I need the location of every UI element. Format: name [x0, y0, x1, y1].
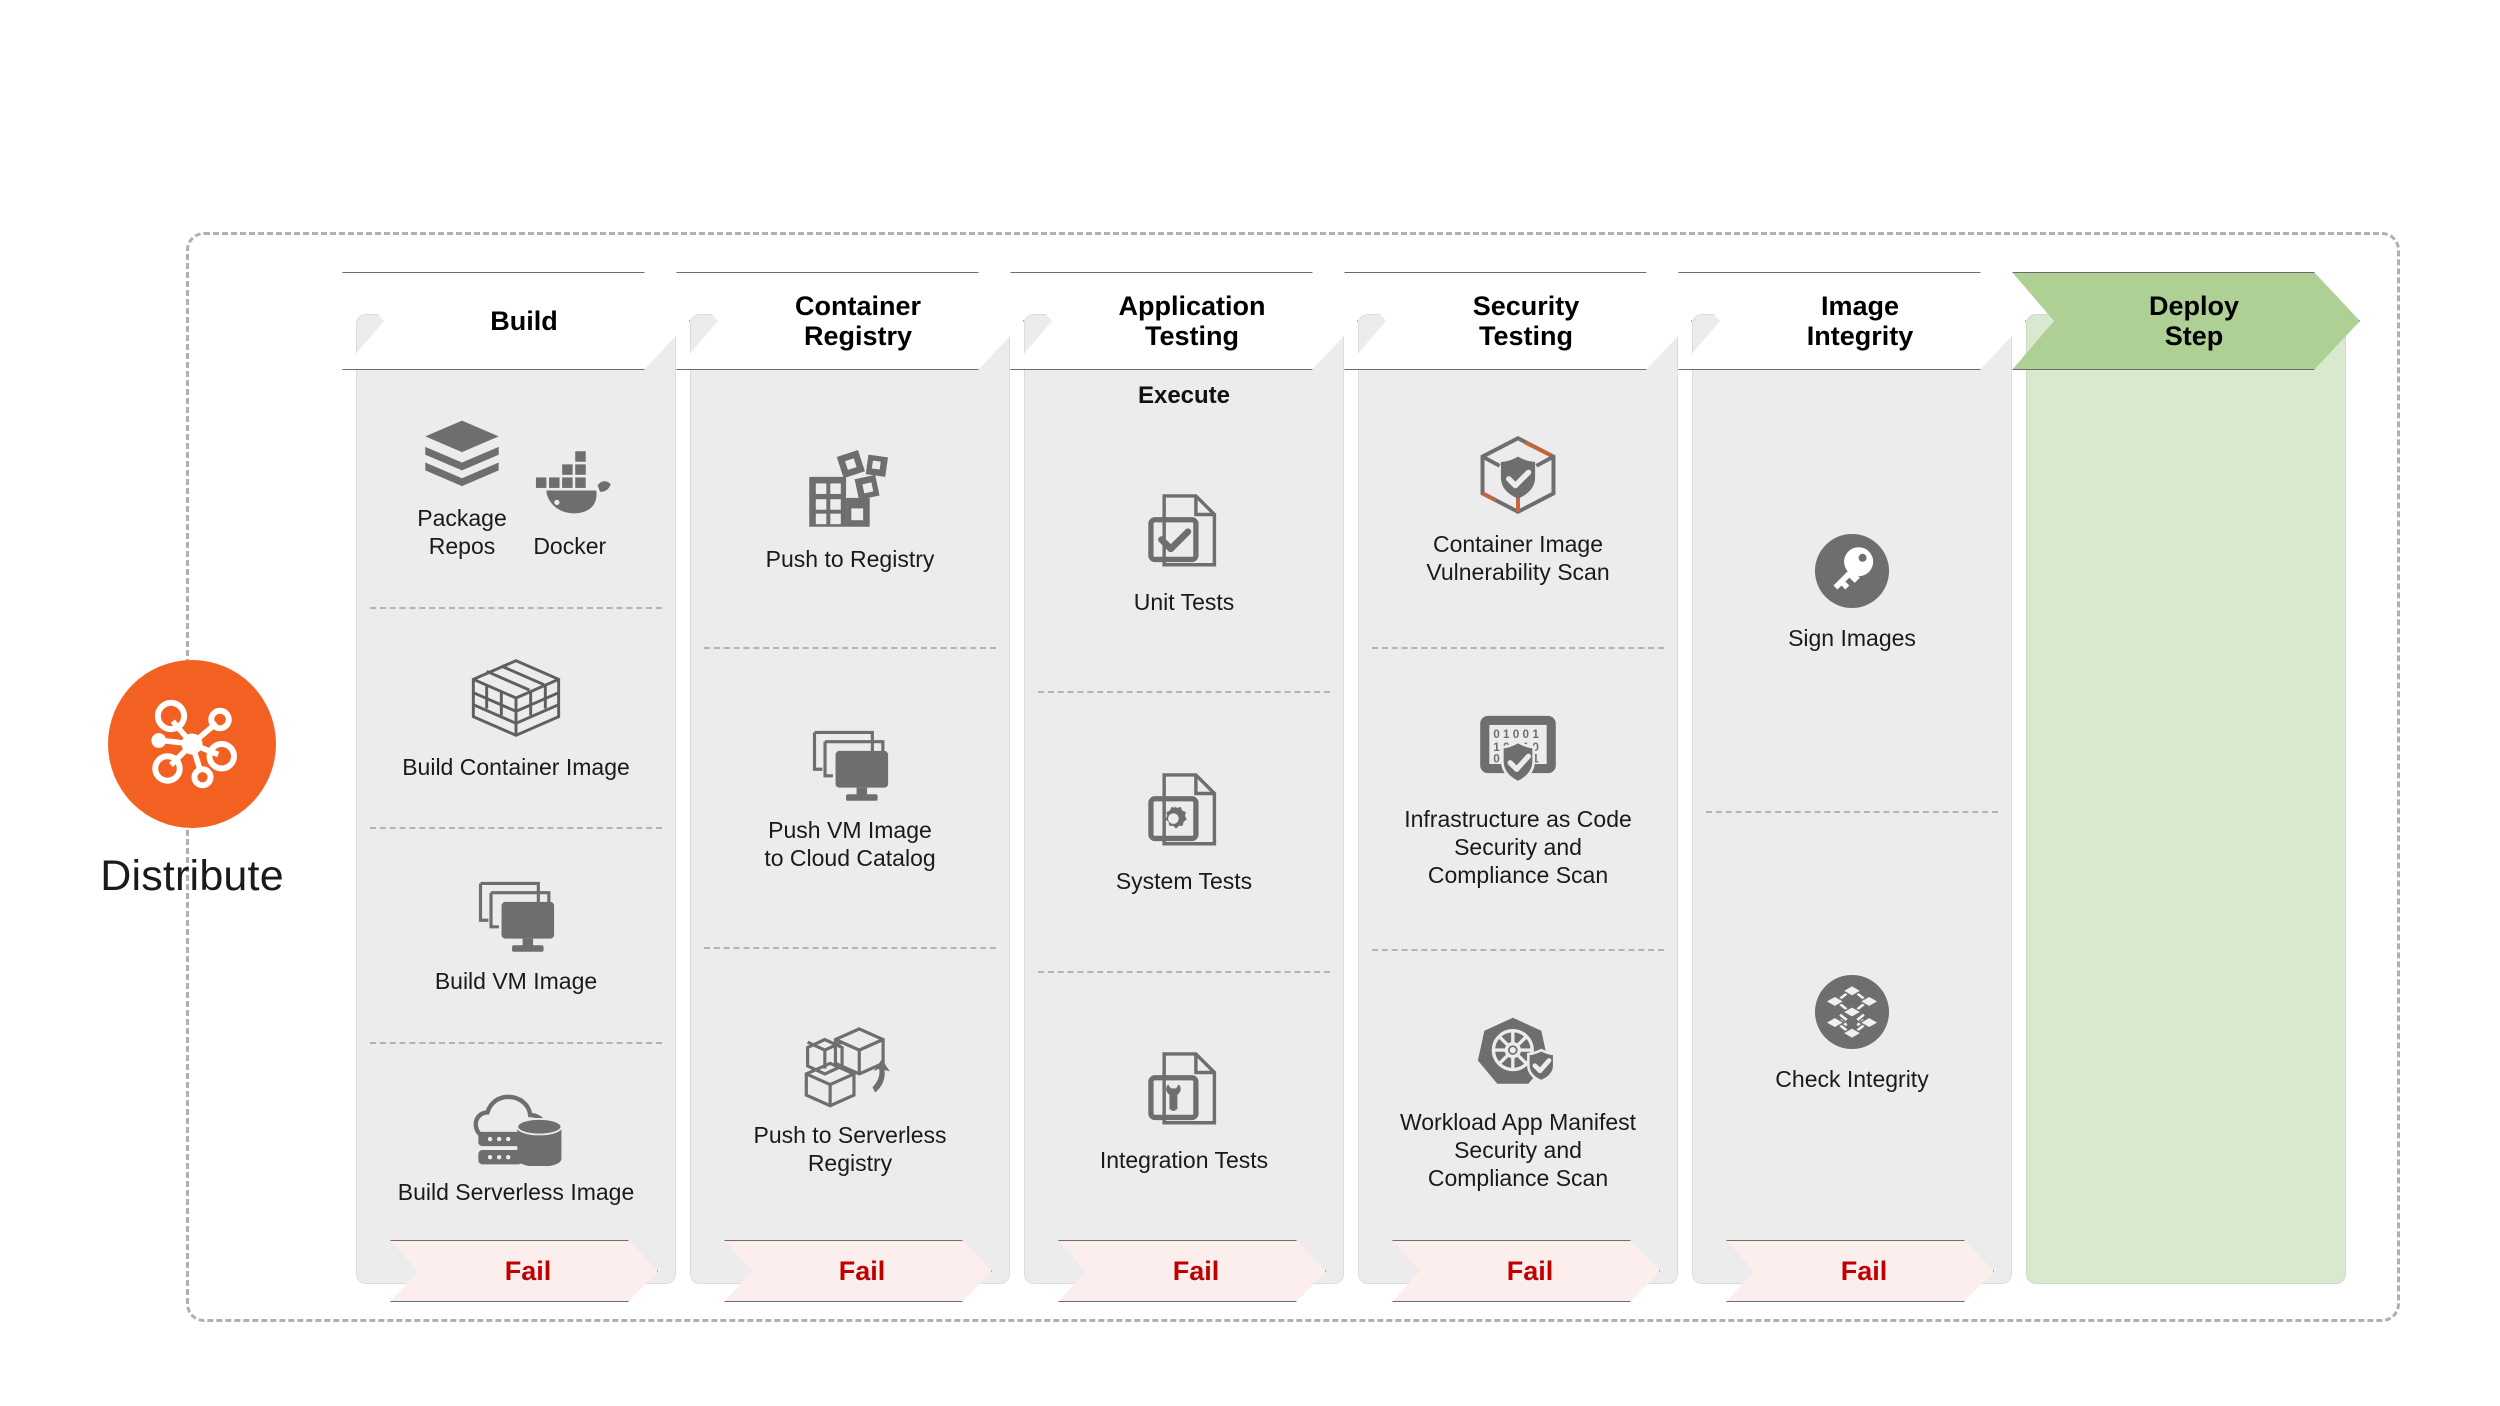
lane-item-build-vm-image[interactable]: Build VM Image: [356, 829, 676, 1041]
lane-item-check-integrity[interactable]: Check Integrity: [1692, 813, 2012, 1252]
lane-item-container-image-vulnerability-scan[interactable]: Container ImageVulnerability Scan: [1358, 372, 1678, 647]
lane-application-testing[interactable]: ApplicationTesting Execute Unit Tests: [1024, 272, 1344, 1282]
item-label: Infrastructure as CodeSecurity andCompli…: [1404, 805, 1632, 889]
network-hub-icon: [108, 660, 276, 828]
lane-body: Sign Images: [1692, 372, 2012, 1252]
pipeline-lanes: Build: [356, 272, 2356, 1282]
lane-item-workload-app-manifest-scan[interactable]: Workload App ManifestSecurity andComplia…: [1358, 951, 1678, 1252]
lane-body: Push to Registry: [690, 372, 1010, 1252]
item-label: Build VM Image: [435, 967, 597, 995]
item-label: Build Container Image: [402, 753, 630, 781]
fail-label: Fail: [831, 1256, 886, 1287]
layers-stack-icon: [419, 418, 505, 494]
document-gear-icon: [1143, 769, 1225, 855]
item-label: Container ImageVulnerability Scan: [1426, 530, 1609, 586]
cube-grid-icon: [468, 655, 564, 741]
lane-header-image-integrity[interactable]: ImageIntegrity: [1678, 272, 2026, 370]
item-label: Check Integrity: [1775, 1065, 1928, 1093]
monitor-stack-icon: [470, 875, 562, 955]
lane-item-package-repos-docker[interactable]: PackageRepos: [356, 372, 676, 607]
lane-body: Execute Unit Tests: [1024, 372, 1344, 1252]
icon-label: PackageRepos: [417, 504, 507, 560]
lane-header-container-registry[interactable]: ContainerRegistry: [676, 272, 1024, 370]
item-label: Workload App ManifestSecurity andComplia…: [1400, 1108, 1636, 1192]
lane-build[interactable]: Build: [356, 272, 676, 1282]
lane-body: [2026, 372, 2346, 1252]
lane-security-testing[interactable]: SecurityTesting: [1358, 272, 1678, 1282]
binary-screen-shield-icon: 0 1 0 0 1 1 0 1 1 0 0 1 0 0 1: [1475, 709, 1561, 793]
lane-header-build[interactable]: Build: [342, 272, 690, 370]
lane-header-application-testing[interactable]: ApplicationTesting: [1010, 272, 1358, 370]
fail-banner[interactable]: Fail: [390, 1240, 658, 1302]
lane-item-integration-tests[interactable]: Integration Tests: [1024, 973, 1344, 1250]
lane-title: ApplicationTesting: [1093, 291, 1276, 351]
item-label: Sign Images: [1788, 624, 1916, 652]
item-label: System Tests: [1116, 867, 1252, 895]
lane-subheading: Execute: [1024, 382, 1344, 410]
lane-title: ContainerRegistry: [769, 291, 931, 351]
lane-item-build-serverless-image[interactable]: Build Serverless Image: [356, 1044, 676, 1252]
cube-shield-check-icon: [1472, 432, 1564, 518]
lane-header-deploy-step[interactable]: DeployStep: [2012, 272, 2360, 370]
key-circle-icon: [1811, 530, 1893, 612]
svg-text:0 1 0 0 1: 0 1 0 0 1: [1493, 728, 1539, 741]
fail-label: Fail: [497, 1256, 552, 1287]
blockchain-circle-icon: [1811, 971, 1893, 1053]
item-label: Integration Tests: [1100, 1146, 1268, 1174]
lane-title: ImageIntegrity: [1781, 291, 1924, 351]
fail-banner[interactable]: Fail: [1058, 1240, 1326, 1302]
lane-title: Build: [464, 306, 568, 336]
lane-item-push-to-serverless-registry[interactable]: Push to ServerlessRegistry: [690, 949, 1010, 1252]
document-wrench-icon: [1143, 1048, 1225, 1134]
lane-item-system-tests[interactable]: System Tests: [1024, 693, 1344, 970]
lane-image-integrity[interactable]: ImageIntegrity Sign Im: [1692, 272, 2012, 1282]
lane-item-push-vm-image-to-cloud-catalog[interactable]: Push VM Imageto Cloud Catalog: [690, 649, 1010, 946]
kubernetes-shield-icon: [1474, 1012, 1562, 1096]
item-label: Unit Tests: [1134, 588, 1235, 616]
lane-deploy-step[interactable]: DeployStep: [2026, 272, 2346, 1282]
lane-body: PackageRepos: [356, 372, 676, 1252]
icon-label: Docker: [533, 532, 606, 560]
fail-label: Fail: [1499, 1256, 1554, 1287]
fail-banner[interactable]: Fail: [724, 1240, 992, 1302]
cubes-arrow-icon: [801, 1023, 899, 1109]
lane-title: SecurityTesting: [1447, 291, 1590, 351]
registry-blocks-icon: [804, 447, 896, 533]
distribute-label: Distribute: [92, 852, 292, 901]
lane-item-push-to-registry[interactable]: Push to Registry: [690, 372, 1010, 647]
item-label: Push to ServerlessRegistry: [753, 1121, 946, 1177]
lane-item-build-container-image[interactable]: Build Container Image: [356, 609, 676, 827]
lane-item-iac-security-compliance-scan[interactable]: 0 1 0 0 1 1 0 1 1 0 0 1 0 0 1 Infrastruc…: [1358, 649, 1678, 950]
monitor-stack-icon: [804, 724, 896, 804]
lane-item-unit-tests[interactable]: Unit Tests: [1024, 414, 1344, 691]
fail-label: Fail: [1165, 1256, 1220, 1287]
docker-whale-icon: [525, 446, 615, 522]
item-label: Build Serverless Image: [398, 1178, 635, 1206]
lane-header-security-testing[interactable]: SecurityTesting: [1344, 272, 1692, 370]
item-label: Push VM Imageto Cloud Catalog: [764, 816, 935, 872]
lane-body: Container ImageVulnerability Scan 0 1 0 …: [1358, 372, 1678, 1252]
fail-banner[interactable]: Fail: [1392, 1240, 1660, 1302]
cloud-database-icon: [468, 1090, 564, 1166]
fail-label: Fail: [1833, 1256, 1888, 1287]
item-label: Push to Registry: [766, 545, 935, 573]
distribute-stage: Distribute: [92, 660, 292, 901]
lane-item-sign-images[interactable]: Sign Images: [1692, 372, 2012, 811]
lane-title: DeployStep: [2123, 291, 2249, 351]
fail-banner[interactable]: Fail: [1726, 1240, 1994, 1302]
document-check-icon: [1143, 490, 1225, 576]
lane-container-registry[interactable]: ContainerRegistry: [690, 272, 1010, 1282]
